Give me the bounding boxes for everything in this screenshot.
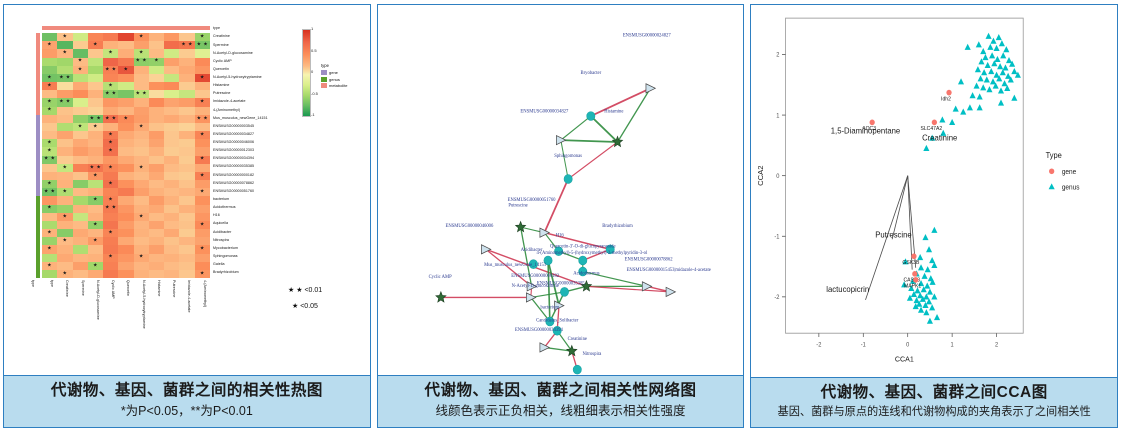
heatmap-cell bbox=[118, 49, 133, 57]
heatmap-cell bbox=[57, 245, 72, 253]
heatmap-cell bbox=[134, 172, 149, 180]
network-node-label: Cyclic AMP bbox=[428, 275, 451, 280]
heatmap-significance-star: ★ bbox=[47, 43, 52, 48]
heatmap-cell bbox=[57, 107, 72, 115]
heatmap-significance-star: ★ bbox=[93, 43, 98, 48]
heatmap-cell bbox=[42, 115, 57, 123]
heatmap-significance-star: ★ bbox=[200, 271, 205, 276]
heatmap-cell bbox=[88, 82, 103, 90]
network-graph: ENSMUSG00000024827BryobacterHistamineENS… bbox=[378, 5, 744, 375]
heatmap-legend-title: type bbox=[321, 63, 329, 68]
heatmap-cell bbox=[134, 147, 149, 155]
heatmap-legend-label: gene bbox=[329, 71, 338, 75]
heatmap-cell bbox=[164, 205, 179, 213]
heatmap-row-label: H16 bbox=[213, 214, 220, 218]
heatmap-significance-star: ★ bbox=[108, 255, 113, 260]
heatmap-cell bbox=[164, 115, 179, 123]
heatmap-cell: ★ bbox=[88, 41, 103, 49]
heatmap-cell bbox=[57, 131, 72, 139]
network-caption-subtitle: 线颜色表示正负相关，线粗细表示相关性强度 bbox=[382, 403, 740, 420]
heatmap-cell bbox=[118, 172, 133, 180]
heatmap-significance-star: ★ ★ bbox=[197, 43, 209, 48]
heatmap-cell: ★ bbox=[57, 237, 72, 245]
heatmap-cell bbox=[42, 237, 57, 245]
heatmap-cell bbox=[149, 82, 164, 90]
heatmap-cell bbox=[179, 180, 194, 188]
heatmap-cell bbox=[73, 229, 88, 237]
heatmap-cell bbox=[149, 205, 164, 213]
heatmap-significance-star: ★ bbox=[62, 34, 67, 39]
heatmap-cell bbox=[118, 98, 133, 106]
heatmap-cell bbox=[179, 229, 194, 237]
panel-heatmap: ★★★★★★ ★★ ★★★★★★ ★★★★ ★★★★ ★★★★★ ★★ ★★★ … bbox=[3, 4, 371, 428]
heatmap-cell: ★ bbox=[42, 41, 57, 49]
heatmap-cell bbox=[118, 196, 133, 204]
heatmap-legend-label: metabolite bbox=[329, 84, 347, 88]
heatmap-cell bbox=[118, 58, 133, 66]
heatmap-cell bbox=[134, 205, 149, 213]
heatmap-significance-star: ★ bbox=[108, 141, 113, 146]
heatmap-cell: ★ bbox=[42, 262, 57, 270]
heatmap-cell: ★ bbox=[42, 107, 57, 115]
panel-network: ENSMUSG00000024827BryobacterHistamineENS… bbox=[377, 4, 745, 428]
heatmap-significance-star: ★ bbox=[200, 222, 205, 227]
cca-gene-point bbox=[870, 120, 875, 126]
heatmap-cell bbox=[88, 147, 103, 155]
heatmap-cell bbox=[103, 172, 118, 180]
heatmap-cell bbox=[118, 188, 133, 196]
heatmap-cell bbox=[179, 33, 194, 41]
heatmap-cell bbox=[73, 98, 88, 106]
heatmap-color-scale bbox=[302, 29, 311, 117]
heatmap-legend-swatch bbox=[321, 70, 327, 75]
heatmap-significance-star: ★ bbox=[47, 263, 52, 268]
heatmap-cell: ★ bbox=[73, 58, 88, 66]
heatmap-significance-star: ★ ★ bbox=[90, 116, 102, 121]
heatmap-corner-label: type bbox=[30, 280, 34, 287]
network-node-label: Acidothermus bbox=[573, 271, 600, 276]
heatmap-row-label: N-Acetyl-5-hydroxytryptamine bbox=[213, 76, 262, 80]
cca-gene-point bbox=[913, 271, 918, 277]
heatmap-cell: ★ bbox=[88, 221, 103, 229]
heatmap-column-label: Spermine bbox=[80, 280, 84, 296]
heatmap-cell bbox=[57, 254, 72, 262]
heatmap-row-label: Creatinine bbox=[213, 35, 230, 39]
heatmap-row-label: Bradyrhizobium bbox=[213, 271, 239, 275]
heatmap-cell bbox=[195, 66, 210, 74]
heatmap-cell bbox=[164, 49, 179, 57]
heatmap-cell bbox=[195, 205, 210, 213]
network-node-label: Histamine bbox=[604, 109, 623, 114]
heatmap-cell bbox=[164, 66, 179, 74]
heatmap-cell bbox=[134, 270, 149, 278]
cca-gene-label: GSK3B bbox=[903, 260, 920, 266]
heatmap-cell bbox=[149, 74, 164, 82]
heatmap-cell bbox=[57, 58, 72, 66]
heatmap-cell bbox=[149, 156, 164, 164]
heatmap-significance-star: ★ bbox=[200, 157, 205, 162]
network-node-label: bacterium bbox=[540, 305, 559, 310]
network-node-label: Quercetin-3'-O-di-glucopyranoside bbox=[550, 244, 616, 249]
heatmap-cell bbox=[103, 41, 118, 49]
heatmap-cell bbox=[179, 115, 194, 123]
heatmap-cell bbox=[103, 156, 118, 164]
heatmap-row-label: ENSMUSG00000034827 bbox=[213, 133, 254, 137]
heatmap-cell bbox=[195, 82, 210, 90]
heatmap-cell bbox=[103, 221, 118, 229]
heatmap-significance-star: ★ bbox=[200, 100, 205, 105]
network-node-triangle bbox=[540, 343, 549, 352]
network-node-circle bbox=[586, 112, 594, 121]
heatmap-cell bbox=[179, 139, 194, 147]
network-node-label: Creatinine bbox=[567, 337, 586, 342]
heatmap-cell bbox=[195, 180, 210, 188]
network-edge bbox=[561, 140, 568, 179]
heatmap-cell bbox=[42, 270, 57, 278]
heatmap-cell bbox=[149, 33, 164, 41]
heatmap-significance-star: ★ bbox=[78, 67, 83, 72]
heatmap-cell bbox=[195, 58, 210, 66]
heatmap-cell bbox=[164, 156, 179, 164]
heatmap-cell bbox=[118, 41, 133, 49]
heatmap-cell: ★ bbox=[195, 156, 210, 164]
heatmap-cell bbox=[118, 74, 133, 82]
heatmap-cell bbox=[73, 196, 88, 204]
heatmap-cell bbox=[179, 107, 194, 115]
heatmap-cell bbox=[179, 213, 194, 221]
heatmap-cell: ★ bbox=[134, 123, 149, 131]
heatmap-significance-star: ★ bbox=[200, 190, 205, 195]
heatmap-cell bbox=[134, 188, 149, 196]
heatmap-cell: ★ bbox=[42, 147, 57, 155]
heatmap-cell: ★ bbox=[42, 82, 57, 90]
heatmap-significance-star: ★ bbox=[139, 214, 144, 219]
heatmap-cell bbox=[179, 156, 194, 164]
heatmap-cell bbox=[88, 188, 103, 196]
heatmap-significance-star: ★ bbox=[47, 83, 52, 88]
heatmap-cell bbox=[134, 66, 149, 74]
heatmap-significance-star: ★ ★ bbox=[181, 43, 193, 48]
heatmap-significance-star: ★ bbox=[93, 263, 98, 268]
network-edge bbox=[561, 116, 591, 140]
heatmap-significance-star: ★ bbox=[139, 124, 144, 129]
heatmap-cell: ★ bbox=[73, 123, 88, 131]
heatmap-row-label: ENSMUSG00000000182 bbox=[213, 174, 254, 178]
heatmap-cell bbox=[73, 74, 88, 82]
heatmap-row-label: Imidazole-4-acetate bbox=[213, 100, 246, 104]
heatmap-cell bbox=[179, 147, 194, 155]
heatmap-significance-star: ★ ★ bbox=[59, 100, 71, 105]
heatmap-cell bbox=[73, 180, 88, 188]
heatmap-cell: ★ bbox=[88, 196, 103, 204]
cca-legend-label: genus bbox=[1062, 184, 1080, 191]
heatmap-cell: ★ bbox=[42, 180, 57, 188]
heatmap-cell bbox=[195, 237, 210, 245]
heatmap-scale-tick: 0.5 bbox=[311, 49, 317, 53]
heatmap-cell: ★ bbox=[88, 237, 103, 245]
heatmap-cell bbox=[179, 245, 194, 253]
heatmap-cell bbox=[164, 229, 179, 237]
heatmap-cell: ★ bbox=[195, 245, 210, 253]
heatmap-legend-swatch bbox=[321, 77, 327, 82]
heatmap-cell: ★ ★ bbox=[42, 156, 57, 164]
heatmap-cell bbox=[88, 131, 103, 139]
heatmap-caption-subtitle: *为P<0.05，**为P<0.01 bbox=[8, 403, 366, 420]
heatmap-cell bbox=[118, 229, 133, 237]
network-node-label: Candidatus_Solibacter bbox=[536, 318, 579, 323]
heatmap-row-label: ENSMUSG00000012303 bbox=[213, 149, 254, 153]
heatmap-significance-star: ★ bbox=[108, 165, 113, 170]
heatmap-cell bbox=[179, 58, 194, 66]
panel-cca: -2-1012210-1-2CCA1CCA21,5-Diaminopentane… bbox=[750, 4, 1118, 428]
heatmap-cell bbox=[73, 245, 88, 253]
heatmap-cell bbox=[118, 164, 133, 172]
heatmap-cell bbox=[149, 245, 164, 253]
heatmap-cell bbox=[149, 237, 164, 245]
heatmap-significance-star: ★ bbox=[78, 124, 83, 129]
heatmap-cell: ★ bbox=[103, 196, 118, 204]
heatmap-cell bbox=[103, 98, 118, 106]
heatmap-cell bbox=[179, 164, 194, 172]
heatmap-cell bbox=[88, 49, 103, 57]
heatmap-significance-star: ★ bbox=[62, 51, 67, 56]
heatmap-cell: ★ ★ bbox=[42, 188, 57, 196]
heatmap-cell bbox=[42, 164, 57, 172]
heatmap-cell bbox=[57, 221, 72, 229]
heatmap-cell bbox=[118, 213, 133, 221]
network-caption-title: 代谢物、基因、菌群之间相关性网络图 bbox=[382, 381, 740, 402]
heatmap-row-annotation bbox=[36, 196, 40, 278]
network-node-label: ENSMUSG00000051760 bbox=[507, 198, 555, 203]
heatmap-cell: ★ bbox=[118, 66, 133, 74]
heatmap-cell bbox=[134, 41, 149, 49]
heatmap-cell bbox=[149, 172, 164, 180]
heatmap-cell bbox=[73, 237, 88, 245]
heatmap-cell bbox=[195, 229, 210, 237]
heatmap-cell: ★ ★ bbox=[103, 115, 118, 123]
heatmap-significance-star: ★ bbox=[124, 67, 129, 72]
heatmap-cell: ★ ★ bbox=[195, 41, 210, 49]
heatmap-cell: ★ bbox=[73, 66, 88, 74]
heatmap-cell bbox=[195, 196, 210, 204]
network-caption: 代谢物、基因、菌群之间相关性网络图 线颜色表示正负相关，线粗细表示相关性强度 bbox=[378, 375, 744, 427]
heatmap-cell bbox=[118, 82, 133, 90]
heatmap-cell bbox=[164, 180, 179, 188]
heatmap-cell bbox=[103, 213, 118, 221]
network-edge bbox=[544, 179, 568, 233]
heatmap-row-label: Gaiella bbox=[213, 263, 225, 267]
heatmap-cell bbox=[195, 139, 210, 147]
heatmap-significance-star: ★ bbox=[139, 255, 144, 260]
heatmap-cell bbox=[164, 139, 179, 147]
heatmap-cell bbox=[134, 115, 149, 123]
cca-ylabel: CCA2 bbox=[757, 165, 766, 185]
heatmap-cell bbox=[179, 131, 194, 139]
heatmap-cell: ★ bbox=[88, 123, 103, 131]
heatmap-cell bbox=[164, 123, 179, 131]
heatmap-cell bbox=[88, 270, 103, 278]
heatmap-cell bbox=[42, 254, 57, 262]
heatmap-cell: ★ bbox=[57, 270, 72, 278]
heatmap-cell bbox=[42, 33, 57, 41]
heatmap-cell bbox=[195, 164, 210, 172]
heatmap-cell: ★ ★ bbox=[57, 98, 72, 106]
heatmap-significance-star: ★ bbox=[108, 230, 113, 235]
heatmap-significance-star: ★ bbox=[200, 75, 205, 80]
heatmap-significance-star: ★ ★ bbox=[105, 206, 117, 211]
heatmap-cell bbox=[73, 90, 88, 98]
heatmap-significance-star: ★ bbox=[93, 173, 98, 178]
heatmap-cell: ★ bbox=[118, 115, 133, 123]
heatmap-cell bbox=[57, 82, 72, 90]
heatmap-cell bbox=[118, 237, 133, 245]
heatmap-cell: ★ bbox=[149, 58, 164, 66]
heatmap-cell bbox=[134, 82, 149, 90]
heatmap-cell: ★ bbox=[42, 245, 57, 253]
heatmap-significance-star: ★ bbox=[108, 51, 113, 56]
cca-x-tick-label: 1 bbox=[951, 342, 954, 348]
heatmap-cell bbox=[42, 196, 57, 204]
cca-y-tick-label: -2 bbox=[775, 295, 780, 301]
network-node-circle bbox=[564, 175, 572, 184]
heatmap-cell bbox=[164, 41, 179, 49]
heatmap-cell: ★ bbox=[42, 205, 57, 213]
cca-x-tick-label: -2 bbox=[817, 342, 822, 348]
heatmap-cell: ★ bbox=[195, 172, 210, 180]
heatmap-cell bbox=[179, 123, 194, 131]
heatmap-cell bbox=[179, 270, 194, 278]
heatmap-cell: ★ bbox=[195, 98, 210, 106]
heatmap-cell bbox=[73, 41, 88, 49]
heatmap-cell bbox=[103, 107, 118, 115]
heatmap-cell bbox=[164, 254, 179, 262]
heatmap-cell bbox=[164, 196, 179, 204]
heatmap-column-label: Cyclic AMP bbox=[110, 280, 114, 299]
heatmap-cell bbox=[149, 221, 164, 229]
heatmap-row-label: Acidibacter bbox=[213, 231, 231, 235]
heatmap-cell bbox=[88, 66, 103, 74]
heatmap-cell bbox=[134, 74, 149, 82]
heatmap-cell bbox=[118, 90, 133, 98]
heatmap-cell bbox=[164, 221, 179, 229]
cca-legend-marker bbox=[1049, 168, 1054, 174]
heatmap-cell bbox=[149, 188, 164, 196]
heatmap-cell bbox=[164, 245, 179, 253]
cca-gene-label: AOC3 bbox=[863, 126, 877, 132]
heatmap-significance-star: ★ bbox=[47, 181, 52, 186]
heatmap-cell: ★ ★ bbox=[195, 115, 210, 123]
heatmap-cell: ★ bbox=[103, 131, 118, 139]
heatmap-cell bbox=[134, 221, 149, 229]
heatmap-cell bbox=[134, 237, 149, 245]
heatmap-cell bbox=[164, 74, 179, 82]
heatmap-significance-star: ★ bbox=[200, 247, 205, 252]
cca-y-tick-label: 2 bbox=[777, 53, 780, 59]
heatmap-canvas: ★★★★★★ ★★ ★★★★★★ ★★★★ ★★★★ ★★★★★ ★★ ★★★ … bbox=[4, 5, 370, 375]
heatmap-cell bbox=[164, 82, 179, 90]
heatmap-significance-star: ★ bbox=[139, 165, 144, 170]
heatmap-cell bbox=[149, 90, 164, 98]
cca-caption: 代谢物、基因、菌群之间CCA图 基因、菌群与原点的连线和代谢物构成的夹角表示了之… bbox=[751, 377, 1117, 427]
heatmap-cell bbox=[88, 98, 103, 106]
heatmap-cell: ★ bbox=[42, 139, 57, 147]
heatmap-cell bbox=[134, 107, 149, 115]
cca-arrow-label: lactucopicrin bbox=[827, 285, 870, 294]
heatmap-column-label: type bbox=[49, 280, 53, 287]
heatmap-cell bbox=[103, 262, 118, 270]
cca-legend-label: gene bbox=[1062, 169, 1077, 176]
cca-scatter-plot: -2-1012210-1-2CCA1CCA21,5-Diaminopentane… bbox=[751, 5, 1117, 377]
heatmap-cell: ★ ★ bbox=[88, 164, 103, 172]
heatmap-cell bbox=[118, 221, 133, 229]
heatmap-significance-star: ★ bbox=[200, 173, 205, 178]
network-node-label: H16 bbox=[555, 233, 564, 238]
heatmap-cell bbox=[179, 172, 194, 180]
heatmap-cell bbox=[73, 221, 88, 229]
heatmap-cell bbox=[134, 180, 149, 188]
heatmap-cell: ★ bbox=[134, 49, 149, 57]
heatmap-cell bbox=[103, 74, 118, 82]
heatmap-significance-star: ★ ★ bbox=[90, 165, 102, 170]
network-node-triangle bbox=[666, 287, 675, 296]
heatmap-cell: ★ bbox=[195, 33, 210, 41]
heatmap-significance-star: ★ bbox=[93, 198, 98, 203]
heatmap-column-label: Histamine bbox=[156, 280, 160, 296]
heatmap-cell bbox=[57, 180, 72, 188]
heatmap-cell bbox=[57, 123, 72, 131]
heatmap-significance-star: ★ bbox=[139, 51, 144, 56]
heatmap-cell bbox=[134, 262, 149, 270]
heatmap-cell bbox=[195, 147, 210, 155]
heatmap-significance-star: ★ bbox=[47, 108, 52, 113]
heatmap-cell: ★ bbox=[88, 262, 103, 270]
heatmap-significance-star: ★ bbox=[108, 83, 113, 88]
cca-y-tick-label: 1 bbox=[777, 113, 780, 119]
heatmap-cell bbox=[118, 180, 133, 188]
heatmap-significance-star: ★ bbox=[108, 132, 113, 137]
network-node-label: Bradyrhizobium bbox=[602, 224, 633, 229]
heatmap-cell bbox=[103, 270, 118, 278]
network-edge bbox=[561, 140, 618, 142]
heatmap-cell bbox=[134, 139, 149, 147]
heatmap-significance-star: ★ bbox=[47, 100, 52, 105]
heatmap-cell bbox=[118, 245, 133, 253]
heatmap-row-label: ENSMUSG00000035385 bbox=[213, 165, 254, 169]
network-node-label: ENSMUSG00000034827 bbox=[520, 109, 568, 114]
cca-legend-marker bbox=[1049, 183, 1055, 189]
cca-gene-label: MAPK1 bbox=[904, 283, 921, 289]
heatmap-cell: ★ bbox=[103, 139, 118, 147]
heatmap-cell bbox=[179, 82, 194, 90]
network-node-star bbox=[436, 292, 446, 302]
heatmap-cell bbox=[179, 237, 194, 245]
heatmap-significance-star: ★ bbox=[108, 198, 113, 203]
heatmap-row-label: Sphingomonas bbox=[213, 255, 238, 259]
heatmap-cell bbox=[88, 213, 103, 221]
heatmap-significance-star: ★ bbox=[62, 271, 67, 276]
cca-x-tick-label: -1 bbox=[861, 342, 866, 348]
heatmap-cell bbox=[73, 115, 88, 123]
heatmap-row-label: ENSMUSG00000078862 bbox=[213, 182, 254, 186]
heatmap-cell bbox=[57, 196, 72, 204]
heatmap-cell bbox=[88, 139, 103, 147]
heatmap-cell: ★ bbox=[195, 221, 210, 229]
heatmap-cell bbox=[149, 196, 164, 204]
heatmap-row-label: Spermine bbox=[213, 44, 229, 48]
heatmap-cell: ★ bbox=[134, 164, 149, 172]
heatmap-cell bbox=[42, 131, 57, 139]
heatmap-cell bbox=[164, 172, 179, 180]
